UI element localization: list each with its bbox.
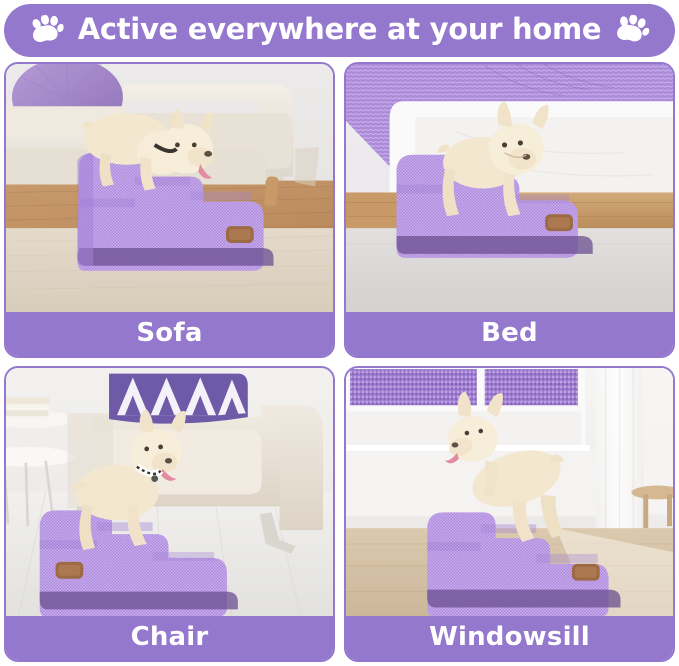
panel-chair[interactable]: Chair <box>4 366 335 662</box>
scene-grid: Sofa <box>4 62 675 662</box>
page-title: Active everywhere at your home <box>78 15 602 46</box>
panel-label-windowsill: Windowsill <box>346 616 673 660</box>
paw-print-icon <box>613 12 651 48</box>
panel-label-bed: Bed <box>346 312 673 356</box>
photo-chair <box>6 368 333 616</box>
paw-print-icon <box>28 12 66 48</box>
photo-windowsill <box>346 368 673 616</box>
header-banner: Active everywhere at your home <box>4 4 675 57</box>
photo-bed <box>346 64 673 312</box>
photo-sofa <box>6 64 333 312</box>
panel-label-chair: Chair <box>6 616 333 660</box>
panel-label-sofa: Sofa <box>6 312 333 356</box>
panel-windowsill[interactable]: Windowsill <box>344 366 675 662</box>
infographic-page: Active everywhere at your home <box>0 0 679 666</box>
panel-bed[interactable]: Bed <box>344 62 675 358</box>
panel-sofa[interactable]: Sofa <box>4 62 335 358</box>
